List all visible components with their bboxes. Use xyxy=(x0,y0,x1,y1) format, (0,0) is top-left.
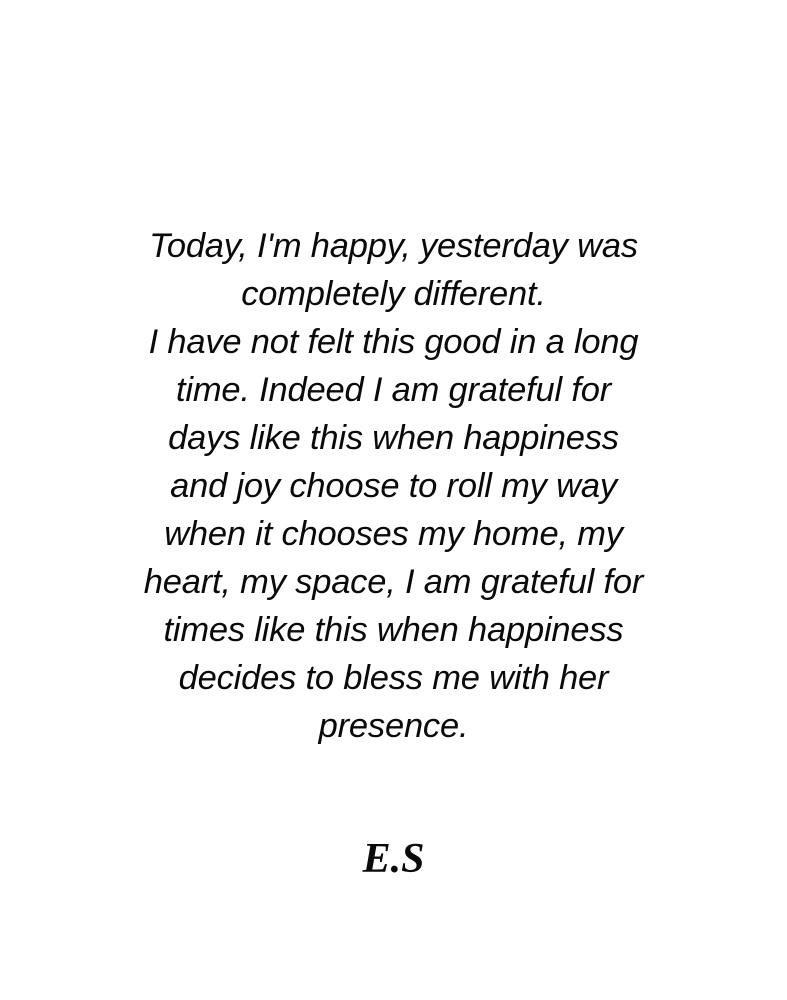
quote-line: heart, my space, I am grateful for xyxy=(89,558,699,606)
quote-line: I have not felt this good in a long xyxy=(89,318,699,366)
author-signature: E.S xyxy=(363,836,425,882)
quote-line: completely different. xyxy=(89,270,699,318)
quote-line: days like this when happiness xyxy=(89,414,699,462)
quote-line: and joy choose to roll my way xyxy=(89,462,699,510)
signature-block: E.S xyxy=(0,836,787,882)
quote-line: Today, I'm happy, yesterday was xyxy=(89,222,699,270)
quote-line: presence. xyxy=(89,702,699,750)
quote-line: decides to bless me with her xyxy=(89,654,699,702)
quote-text-block: Today, I'm happy, yesterday was complete… xyxy=(89,222,699,750)
quote-line: time. Indeed I am grateful for xyxy=(89,366,699,414)
quote-line: when it chooses my home, my xyxy=(89,510,699,558)
quote-card: Today, I'm happy, yesterday was complete… xyxy=(0,0,787,1000)
quote-line: times like this when happiness xyxy=(89,606,699,654)
